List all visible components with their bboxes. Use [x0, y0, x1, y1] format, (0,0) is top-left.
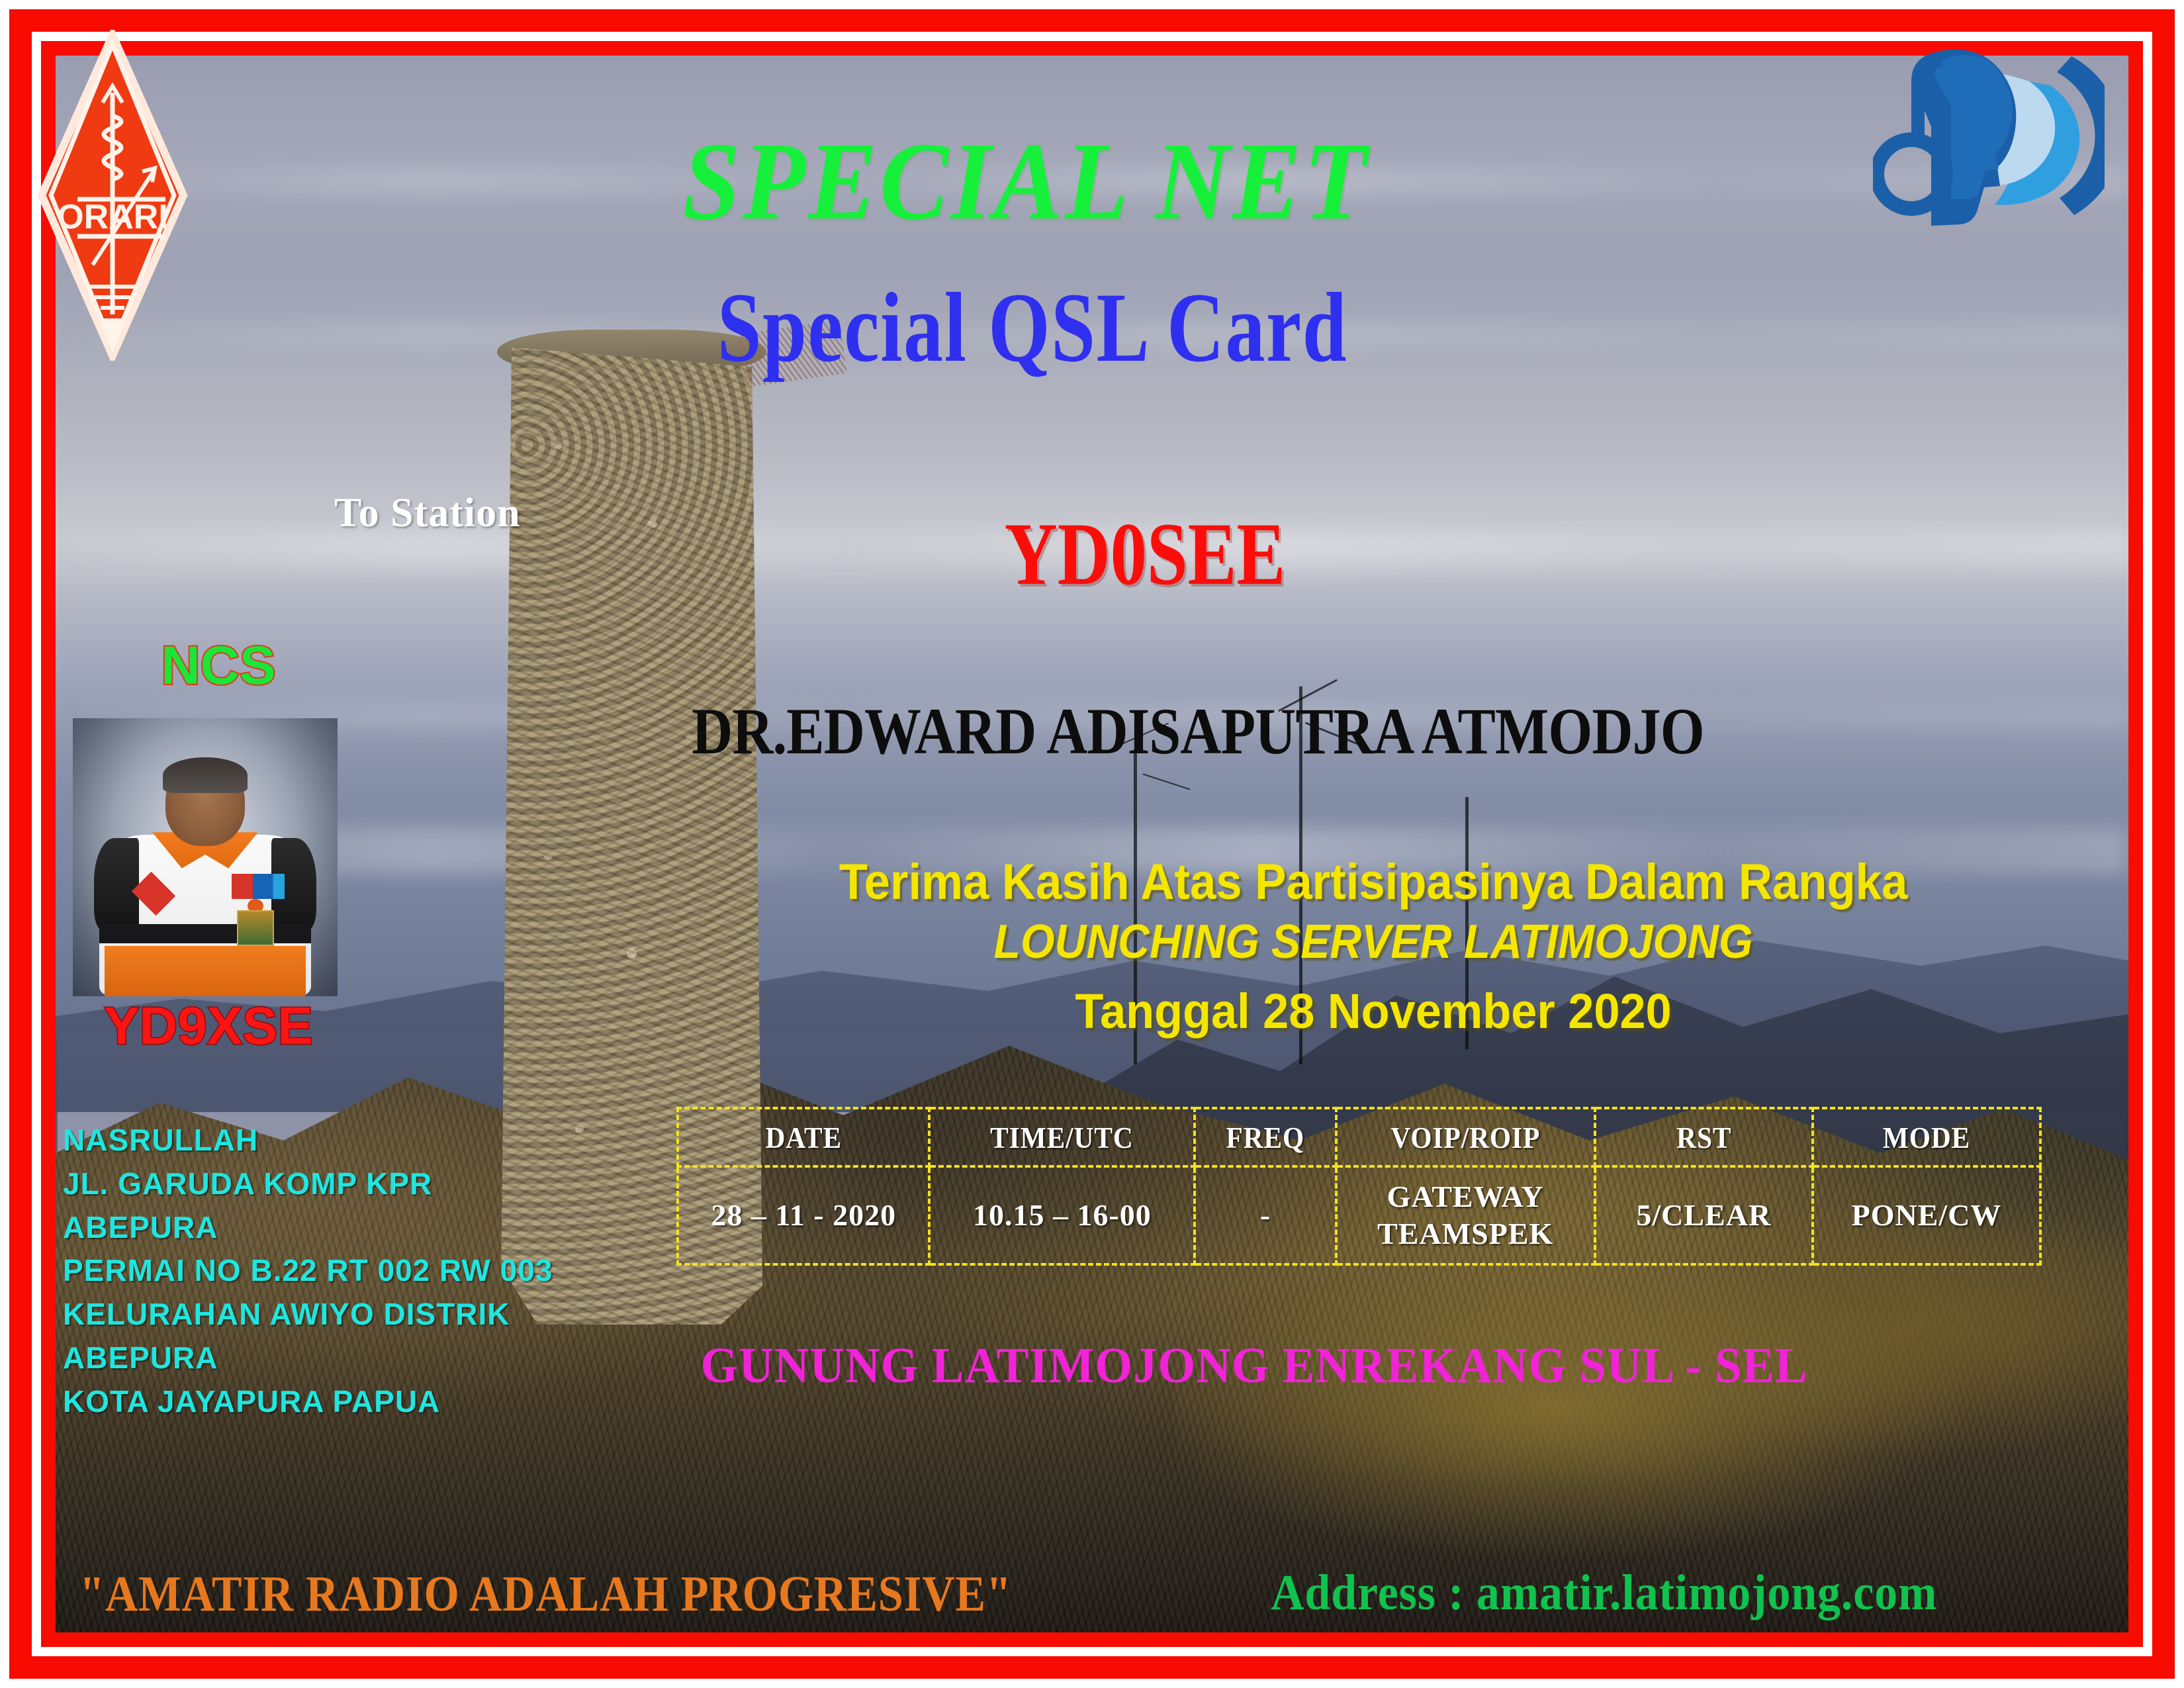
radio-headset-profile-logo: [1873, 36, 2105, 235]
page-title-special-net: SPECIAL NET: [503, 126, 1549, 237]
photo-id-card: [237, 910, 274, 946]
column-header-time: TIME/UTC: [943, 1108, 1182, 1166]
photo-belt-stripe: [99, 924, 311, 943]
address-line: PERMAI NO B.22 RT 002 RW 003: [63, 1249, 553, 1293]
qsl-card: ORARI SPECIAL NET Special QSL Card To St…: [0, 0, 2184, 1688]
cell-date: 28 – 11 - 2020: [678, 1166, 929, 1264]
address-line: KELURAHAN AWIYO DISTRIK: [63, 1293, 553, 1336]
operator-name: DR.EDWARD ADISAPUTRA ATMODJO: [600, 698, 1796, 765]
thanks-line-3: Tanggal 28 November 2020: [729, 974, 2018, 1048]
qso-log-table: DATE TIME/UTC FREQ VOIP/ROIP RST MODE 28…: [676, 1107, 2042, 1266]
thanks-line-1: Terima Kasih Atas Partisipasinya Dalam R…: [743, 854, 2005, 910]
address-line: NASRULLAH: [63, 1119, 553, 1162]
orari-diamond-icon: ORARI: [36, 30, 189, 361]
column-header-date: DATE: [690, 1108, 917, 1166]
event-location: GUNUNG LATIMOJONG ENREKANG SUL - SEL: [622, 1340, 1886, 1391]
address-line: ABEPURA: [63, 1206, 553, 1250]
address-line: KOTA JAYAPURA PAPUA: [63, 1380, 553, 1424]
ncs-label: NCS: [132, 639, 304, 693]
to-station-label: To Station: [334, 490, 521, 537]
cell-freq: -: [1195, 1166, 1336, 1264]
table-row: 28 – 11 - 2020 10.15 – 16-00 - GATEWAY T…: [678, 1166, 2040, 1264]
photo-chest-logo: [232, 874, 285, 899]
ncs-operator-photo: [73, 718, 338, 996]
svg-text:ORARI: ORARI: [57, 198, 168, 236]
address-block: NASRULLAH JL. GARUDA KOMP KPR ABEPURA PE…: [63, 1119, 553, 1423]
recipient-callsign: YD0SEE: [874, 510, 1416, 599]
photo-orange-band: [105, 946, 306, 996]
column-header-freq: FREQ: [1202, 1108, 1329, 1166]
content-overlay: ORARI SPECIAL NET Special QSL Card To St…: [0, 0, 2184, 1688]
cell-time: 10.15 – 16-00: [929, 1166, 1195, 1264]
photo-hair: [163, 757, 248, 794]
column-header-mode: MODE: [1824, 1108, 2029, 1166]
cell-rst: 5/CLEAR: [1595, 1166, 1813, 1264]
thanks-line-2: LOUNCHING SERVER LATIMOJONG: [749, 910, 1997, 974]
cell-mode: PONE/CW: [1813, 1166, 2040, 1264]
thanks-block: Terima Kasih Atas Partisipasinya Dalam R…: [695, 854, 2052, 1048]
orari-logo: ORARI: [36, 30, 189, 361]
footer-motto: "AMATIR RADIO ADALAH PROGRESIVE": [79, 1569, 1012, 1619]
headset-profile-icon: [1873, 36, 2105, 235]
ncs-callsign: YD9XSE: [60, 1000, 357, 1053]
footer-web-address: Address : amatir.latimojong.com: [1271, 1568, 1937, 1618]
photo-shoulder-left: [94, 838, 139, 933]
column-header-rst: RST: [1606, 1108, 1802, 1166]
column-header-voip: VOIP/ROIP: [1349, 1108, 1582, 1166]
table-header-row: DATE TIME/UTC FREQ VOIP/ROIP RST MODE: [678, 1108, 2040, 1166]
cell-voip: GATEWAY TEAMSPEK: [1336, 1166, 1595, 1264]
address-line: ABEPURA: [63, 1336, 553, 1380]
page-subtitle-qsl-card: Special QSL Card: [577, 278, 1488, 377]
address-line: JL. GARUDA KOMP KPR: [63, 1162, 553, 1206]
